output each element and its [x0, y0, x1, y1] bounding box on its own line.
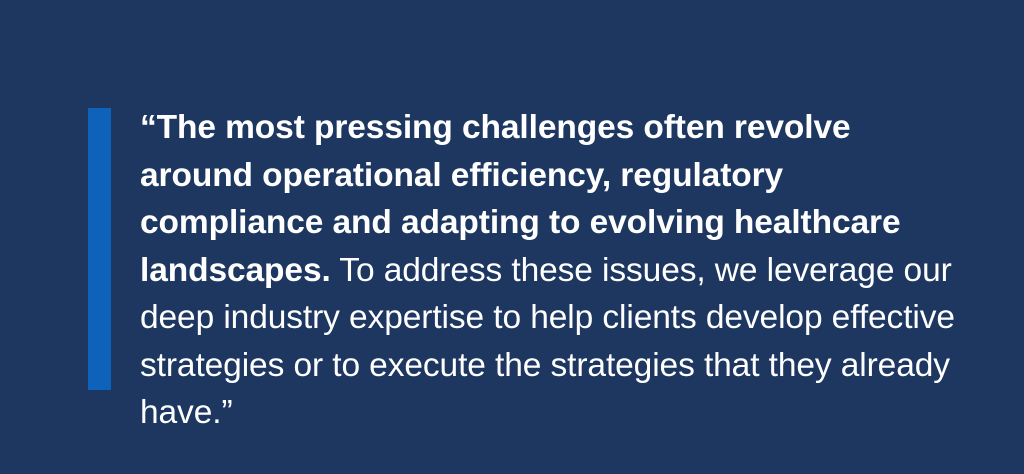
pullquote-slide: “The most pressing challenges often revo… — [0, 0, 1024, 474]
quote-block: “The most pressing challenges often revo… — [140, 104, 970, 437]
quote-text: “The most pressing challenges often revo… — [140, 104, 970, 437]
accent-bar — [88, 108, 111, 390]
